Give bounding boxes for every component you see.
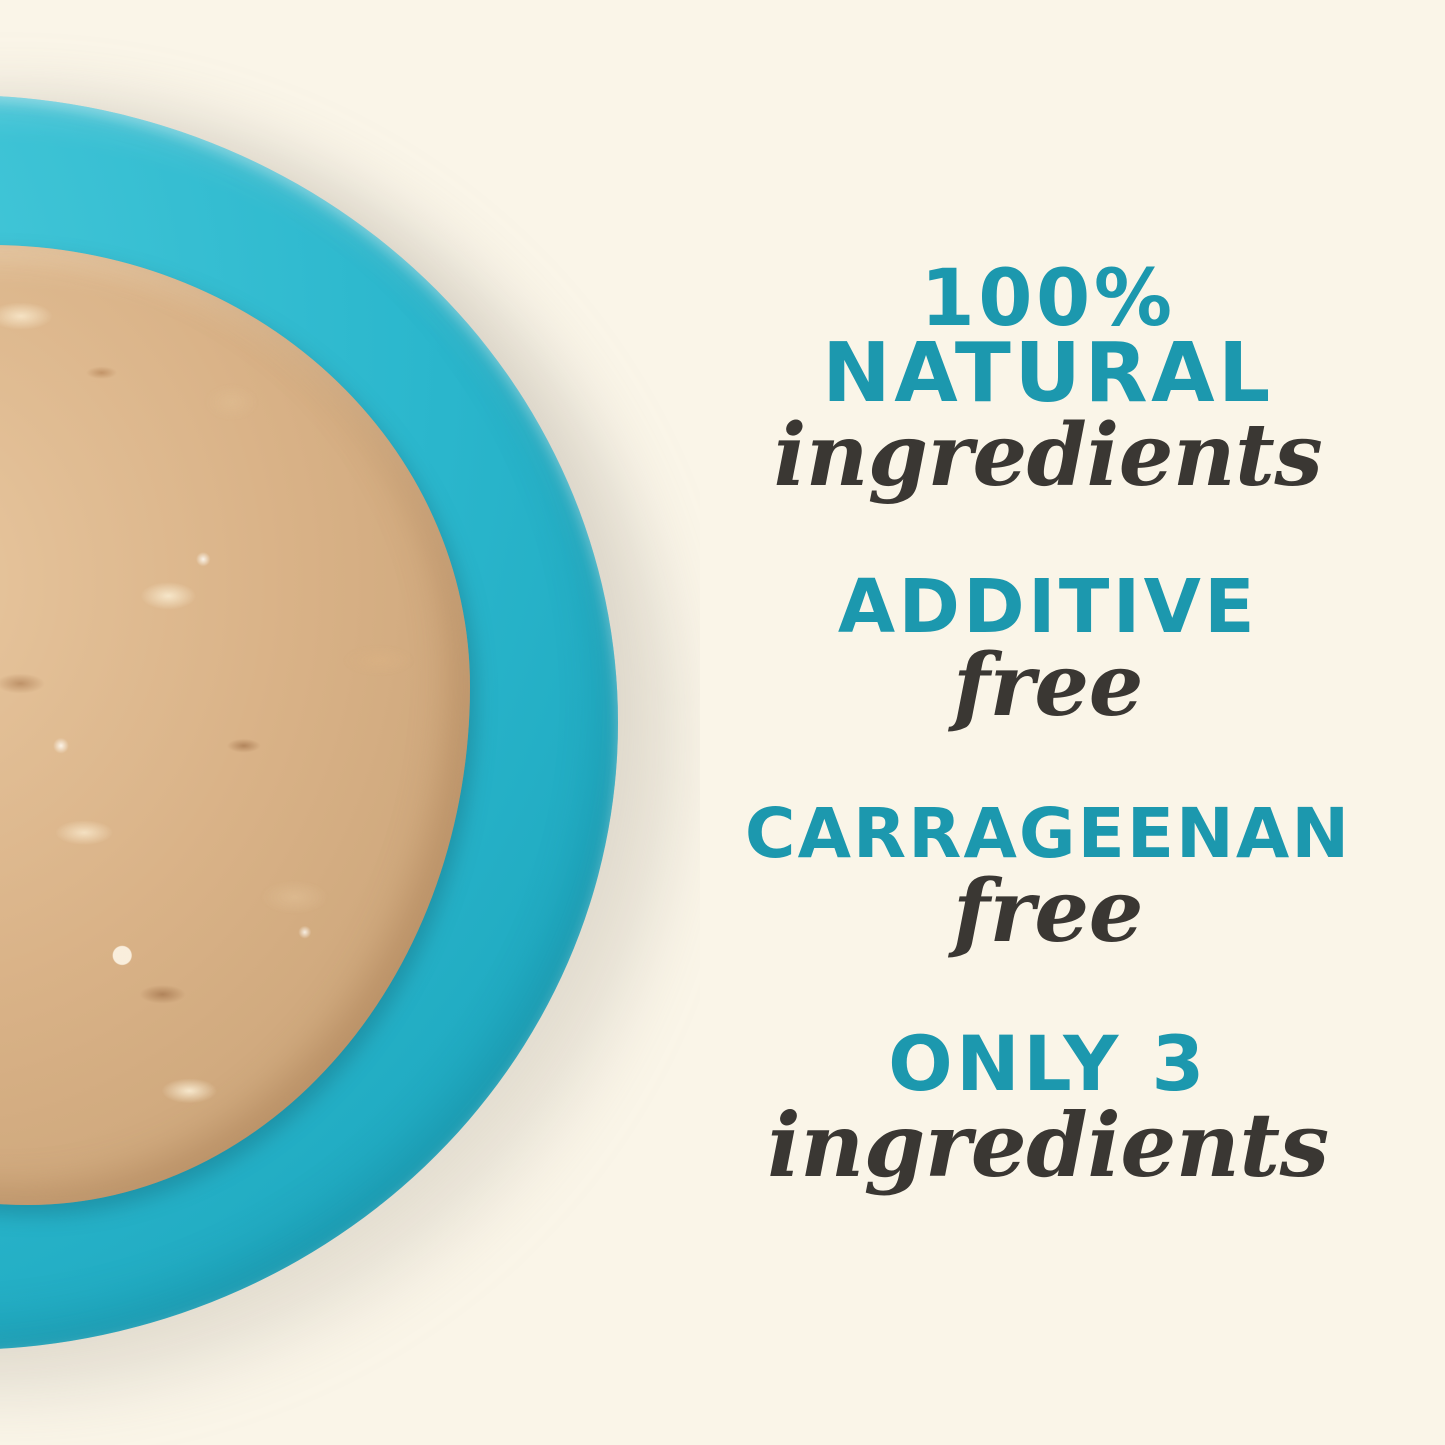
claim-carrageenan-free: CARRAGEENAN free	[668, 803, 1428, 954]
food-photo	[0, 0, 700, 1445]
claim-script: ingredients	[668, 413, 1428, 499]
claims-list: 100% NATURAL ingredients ADDITIVE free C…	[668, 0, 1428, 1445]
claim-additive-free: ADDITIVE free	[668, 573, 1428, 729]
claim-headline-line2: NATURAL	[668, 336, 1428, 411]
claim-only-3-ingredients: ONLY 3 ingredients	[668, 1029, 1428, 1189]
claim-headline: ONLY 3	[668, 1029, 1428, 1099]
product-claims-panel: 100% NATURAL ingredients ADDITIVE free C…	[0, 0, 1445, 1445]
claim-headline: 100% NATURAL	[668, 264, 1428, 411]
claim-script: free	[668, 643, 1428, 729]
claim-script: free	[668, 869, 1428, 955]
claim-natural-ingredients: 100% NATURAL ingredients	[668, 264, 1428, 499]
claim-headline: ADDITIVE	[668, 573, 1428, 641]
shredded-food-pile	[0, 245, 470, 1205]
claim-headline: CARRAGEENAN	[668, 803, 1428, 866]
claim-script: ingredients	[668, 1101, 1428, 1189]
